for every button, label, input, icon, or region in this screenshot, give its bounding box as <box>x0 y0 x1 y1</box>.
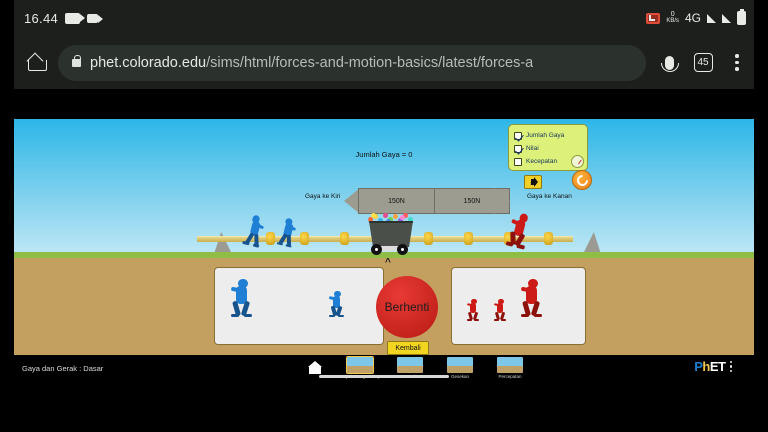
url-domain: phet.colorado.edu <box>90 55 206 71</box>
sim-tab-thumbnail <box>347 357 373 373</box>
network-speed-indicator: 0 KB/s <box>666 12 679 24</box>
speedometer-icon <box>571 155 584 168</box>
red-puller-in-toolbox[interactable] <box>519 279 546 323</box>
left-force-label: Gaya ke Kiri <box>305 193 340 200</box>
puller-limb <box>506 241 514 246</box>
sim-tab-thumbnail <box>447 357 473 373</box>
lock-icon <box>72 59 81 67</box>
right-force-label: Gaya ke Kanan <box>527 193 572 200</box>
microphone-icon <box>665 56 674 70</box>
puller-limb <box>501 319 506 321</box>
tab-switcher-button[interactable]: 45 <box>686 53 720 72</box>
letterbox-right <box>754 0 768 432</box>
checkbox-label-sum-of-forces: Jumlah Gaya <box>526 132 564 139</box>
puller-limb <box>474 319 479 321</box>
rope-knot[interactable] <box>544 232 553 245</box>
cast-icon <box>646 13 660 24</box>
sum-of-forces-label: Jumlah Gaya = 0 <box>14 150 754 159</box>
red-puller-in-toolbox[interactable] <box>493 299 509 324</box>
puller-limb <box>285 244 292 248</box>
puller-limb <box>494 319 499 321</box>
red-puller-in-toolbox[interactable] <box>466 299 482 324</box>
signal-icon <box>722 14 731 23</box>
rope-knot[interactable] <box>464 232 473 245</box>
simulation-stage[interactable]: Jumlah Gaya = 0 150N 150N Gaya ke Kiri G… <box>14 119 754 355</box>
network-type-label: 4G <box>685 11 701 25</box>
puller-limb <box>338 315 344 318</box>
home-icon <box>28 55 45 70</box>
sim-tab-label: Gesekan <box>451 374 469 379</box>
cart-wheel <box>371 244 382 255</box>
speaker-muted-icon: × <box>531 179 536 185</box>
checkbox-row-values[interactable]: Nilai <box>514 142 582 155</box>
puller-limb <box>242 241 249 246</box>
puller-limb <box>534 314 542 318</box>
tab-count-label: 45 <box>694 53 713 72</box>
sound-toggle-button[interactable]: × <box>524 175 542 189</box>
home-icon <box>308 362 322 374</box>
checkbox-speed[interactable] <box>514 158 522 166</box>
status-bar-right: 0 KB/s 4G <box>646 11 746 25</box>
blue-puller-in-toolbox[interactable] <box>229 279 256 323</box>
browser-menu-button[interactable] <box>720 54 754 71</box>
puller-limb <box>252 243 259 248</box>
right-force-value: 150N <box>464 198 481 205</box>
sim-tab-thumbnail <box>397 357 423 373</box>
checkbox-row-sum-of-forces[interactable]: Jumlah Gaya <box>514 129 582 142</box>
sim-tab-label: Percepatan <box>498 374 521 379</box>
puller-limb <box>467 319 472 321</box>
video-camera-icon <box>87 14 98 23</box>
cart-wheel <box>397 244 408 255</box>
return-button[interactable]: Kembali <box>387 341 429 355</box>
home-button[interactable] <box>14 55 58 70</box>
go-stop-button[interactable]: Berhenti <box>376 276 438 338</box>
sim-tab-thumbnail <box>497 357 523 373</box>
blue-puller-in-toolbox[interactable] <box>328 291 347 321</box>
cart-center-marker: ^ <box>385 259 391 267</box>
kebab-menu-icon <box>735 54 739 71</box>
battery-icon <box>737 11 746 25</box>
puller-limb <box>521 314 529 318</box>
checkbox-label-values: Nilai <box>526 145 539 152</box>
network-speed-unit: KB/s <box>666 18 679 24</box>
checkbox-sum-of-forces[interactable] <box>514 132 522 140</box>
phet-logo[interactable]: PhET <box>694 359 732 374</box>
phone-screenshot: 16.44 0 KB/s 4G phet.colorado.edu/sims/h… <box>0 0 768 432</box>
status-bar: 16.44 0 KB/s 4G <box>0 0 768 36</box>
kebab-menu-icon[interactable] <box>730 361 733 373</box>
browser-toolbar: phet.colorado.edu/sims/html/forces-and-m… <box>14 36 754 89</box>
android-gesture-bar[interactable] <box>319 375 449 378</box>
signal-icon <box>707 14 716 23</box>
puller-limb <box>276 242 283 246</box>
puller-limb <box>244 314 252 318</box>
checkbox-values[interactable] <box>514 145 522 153</box>
url-path: /sims/html/forces-and-motion-basics/late… <box>206 55 533 71</box>
letterbox-left <box>0 0 14 432</box>
video-record-icon <box>65 13 80 24</box>
rope-knot[interactable] <box>300 232 309 245</box>
left-force-value: 150N <box>388 198 405 205</box>
puller-limb <box>329 315 335 318</box>
control-panel[interactable]: Jumlah Gaya Nilai Kecepatan <box>508 124 588 171</box>
status-bar-left: 16.44 <box>24 11 98 26</box>
puller-limb <box>517 244 525 249</box>
sim-home-button[interactable] <box>298 362 332 374</box>
phet-wordmark: PhET <box>694 359 725 374</box>
checkbox-label-speed: Kecepatan <box>526 158 557 165</box>
return-button-label: Kembali <box>395 345 420 352</box>
status-clock: 16.44 <box>24 11 58 26</box>
rope-knot[interactable] <box>424 232 433 245</box>
sim-title: Gaya dan Gerak : Dasar <box>22 364 103 373</box>
cart-body <box>366 221 416 247</box>
address-bar[interactable]: phet.colorado.edu/sims/html/forces-and-m… <box>58 45 646 81</box>
reset-all-button[interactable] <box>572 170 592 190</box>
go-stop-button-label: Berhenti <box>385 300 430 314</box>
reset-circle-icon <box>574 172 590 188</box>
sim-tab-acceleration[interactable]: Percepatan <box>488 357 532 379</box>
rope-knot[interactable] <box>340 232 349 245</box>
cart <box>363 211 419 255</box>
voice-search-button[interactable] <box>652 56 686 70</box>
url-text: phet.colorado.edu/sims/html/forces-and-m… <box>90 55 533 71</box>
puller-limb <box>231 314 239 318</box>
